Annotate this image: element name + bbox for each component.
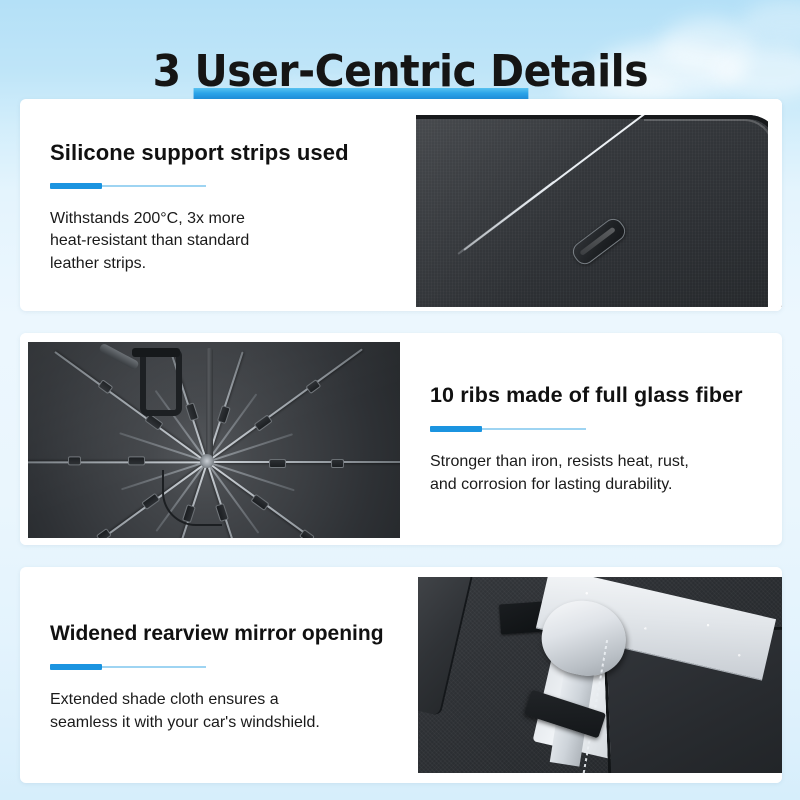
umbrella-canopy-interior (28, 342, 400, 538)
rib-joint (305, 379, 321, 394)
accent-divider (50, 183, 206, 189)
photo-mask-right (768, 99, 782, 311)
page-title-highlight: User-Centric (194, 46, 476, 97)
photo-mask-top (408, 99, 782, 115)
photo-mask-left (408, 99, 416, 311)
umbrella-handle (140, 348, 182, 416)
accent-divider (430, 426, 586, 432)
feature-card-3: Widened rearview mirror opening Extended… (20, 567, 782, 783)
feature-heading: Silicone support strips used (50, 139, 394, 166)
umbrella-rib (28, 461, 207, 463)
rib-joint (251, 493, 270, 511)
feature-heading: Widened rearview mirror opening (50, 620, 398, 647)
sunshade-rim (408, 115, 782, 307)
rib-joint (68, 457, 81, 466)
feature-image-umbrella-ribs (20, 333, 408, 545)
rib-joint (216, 405, 230, 424)
feature-heading: 10 ribs made of full glass fiber (430, 382, 768, 409)
rib-stretcher (119, 433, 207, 463)
rib-joint (141, 493, 160, 511)
feature-card-2: 10 ribs made of full glass fiber Stronge… (20, 333, 782, 545)
rib-joint (299, 529, 315, 538)
accent-divider (50, 664, 206, 670)
divider-thick-segment (430, 426, 482, 432)
rib-joint (269, 459, 286, 469)
feature-image-mirror-opening (412, 567, 782, 783)
umbrella-hub (200, 454, 214, 468)
feature-image-sunshade-corner (408, 99, 782, 311)
sunshade-edge-binding (418, 577, 474, 716)
rib-stretcher (206, 393, 257, 462)
rib-joint (98, 380, 114, 395)
rib-stretcher (207, 433, 293, 462)
feature-text-pane: 10 ribs made of full glass fiber Stronge… (408, 333, 782, 545)
umbrella-rib (207, 461, 400, 463)
feature-body: Extended shade cloth ensures a seamless … (50, 689, 398, 734)
feature-text-pane: Widened rearview mirror opening Extended… (20, 567, 412, 783)
umbrella-rib (206, 461, 358, 538)
page-title: 3 User-Centric Details (152, 46, 647, 98)
rib-joint (185, 402, 199, 421)
photo-mask-bottom (408, 307, 782, 311)
feature-card-1: Silicone support strips used Withstands … (20, 99, 782, 311)
page-title-lead: 3 (152, 46, 194, 97)
sunshade-mirror-area (418, 577, 782, 773)
feature-body: Stronger than iron, resists heat, rust, … (430, 451, 768, 496)
rib-joint (96, 528, 112, 538)
rib-joint (144, 413, 163, 431)
infographic-page: 3 User-Centric Details Silicone support … (0, 0, 800, 800)
divider-thick-segment (50, 183, 102, 189)
rib-joint (128, 456, 145, 466)
umbrella-shaft (206, 348, 213, 460)
umbrella-cord (162, 470, 222, 526)
umbrella-handle-bar (132, 348, 180, 357)
rib-joint (253, 414, 272, 432)
rib-joint (331, 459, 344, 468)
umbrella-rib (206, 348, 363, 463)
feature-body: Withstands 200°C, 3x more heat-resistant… (50, 208, 394, 276)
feature-text-pane: Silicone support strips used Withstands … (20, 99, 408, 311)
page-title-tail: Details (476, 46, 648, 97)
divider-thick-segment (50, 664, 102, 670)
